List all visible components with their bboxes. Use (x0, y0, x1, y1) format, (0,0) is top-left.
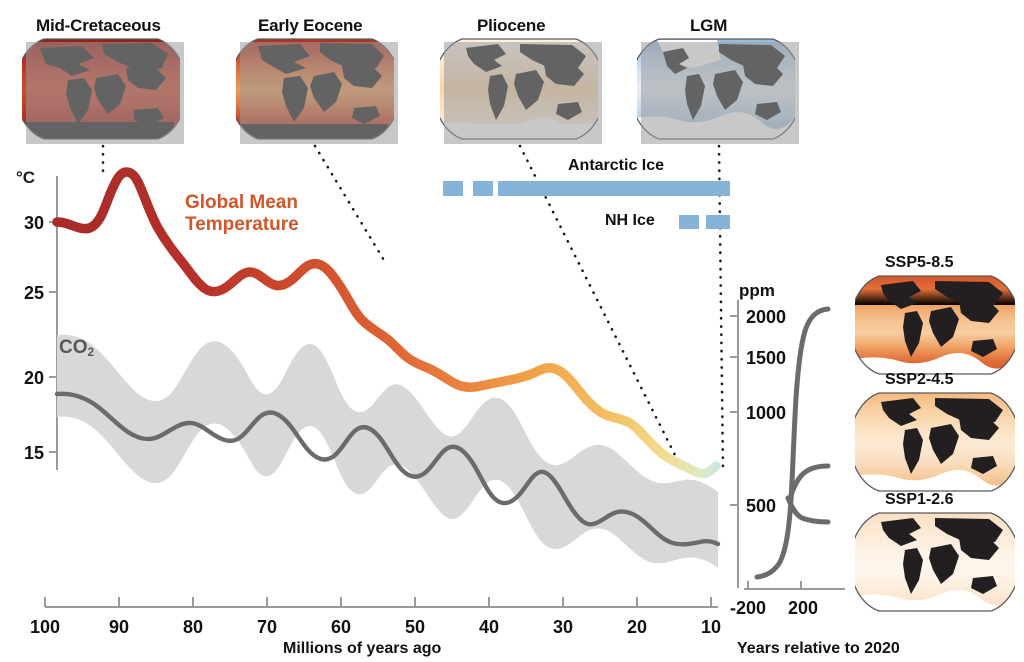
ytick-30: 30 (24, 213, 44, 233)
co2-label: CO2 (59, 337, 94, 359)
ytick-15: 15 (24, 443, 44, 463)
gmt-label-line1: Global Mean (185, 192, 299, 214)
future-xtick-minus200: -200 (730, 598, 766, 618)
xtick-30: 30 (553, 617, 573, 637)
ppm-tick-1500: 1500 (746, 348, 786, 368)
xtick-90: 90 (109, 617, 129, 637)
paleo-xaxis-title: Millions of years ago (283, 640, 441, 658)
xtick-20: 20 (627, 617, 647, 637)
xtick-100: 100 (30, 617, 60, 637)
ppm-tick-500: 500 (746, 496, 776, 516)
nh-ice-label: NH Ice (605, 212, 655, 230)
ssp-label-ssp1-26: SSP1-2.6 (885, 491, 953, 509)
ppm-axis-label: ppm (739, 281, 775, 301)
future-xtick-200: 200 (788, 598, 818, 618)
degc-text: °C (16, 168, 35, 187)
nh-ice-bar-2 (706, 215, 730, 229)
xtick-70: 70 (257, 617, 277, 637)
xtick-60: 60 (331, 617, 351, 637)
ppm-tick-1000: 1000 (746, 403, 786, 423)
xtick-80: 80 (183, 617, 203, 637)
xtick-50: 50 (405, 617, 425, 637)
co2-label-text: CO (59, 337, 88, 358)
ytick-25: 25 (24, 283, 44, 303)
ssp-map-ssp2-45 (855, 392, 1015, 492)
xtick-40: 40 (479, 617, 499, 637)
global-mean-temperature-label: Global Mean Temperature (185, 192, 299, 236)
antarctic-ice-bar-2 (473, 181, 493, 196)
ssp-map-ssp5-85 (855, 275, 1015, 375)
ppm-tick-2000: 2000 (746, 307, 786, 327)
antarctic-ice-bar-3 (498, 181, 730, 196)
degc-axis-label: °C (16, 168, 35, 188)
ssp-label-ssp2-45: SSP2-4.5 (885, 371, 953, 389)
ssp-label-ssp5-85: SSP5-8.5 (885, 254, 953, 272)
ytick-20: 20 (24, 368, 44, 388)
nh-ice-bar-1 (679, 215, 699, 229)
antarctic-ice-label: Antarctic Ice (568, 157, 664, 175)
co2-label-subscript: 2 (88, 345, 95, 359)
ssp-map-ssp1-26 (855, 512, 1015, 612)
future-xaxis-title: Years relative to 2020 (737, 640, 900, 658)
ssp2-45-line (790, 466, 828, 498)
gmt-label-line2: Temperature (185, 214, 299, 236)
xtick-10: 10 (701, 617, 721, 637)
antarctic-ice-bar-1 (443, 181, 463, 196)
ssp1-26-line (788, 498, 828, 522)
